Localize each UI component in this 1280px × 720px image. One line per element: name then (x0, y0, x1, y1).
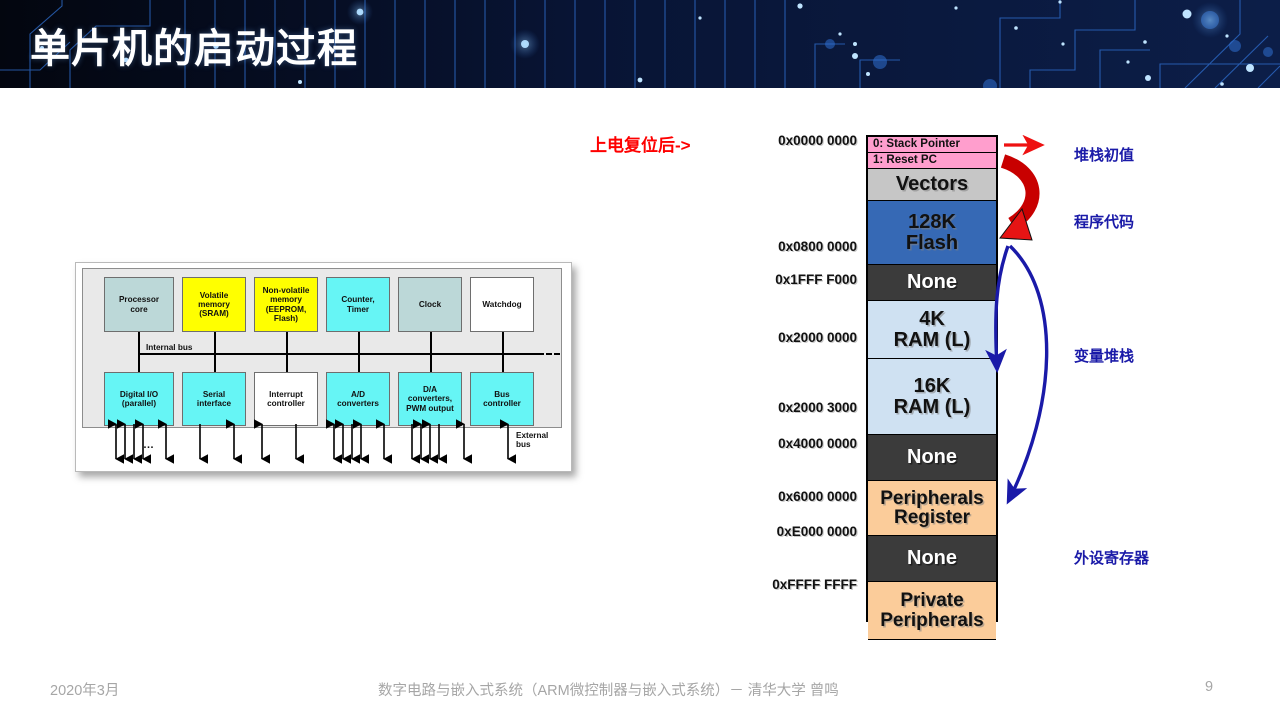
page-title: 单片机的启动过程 (30, 16, 358, 74)
slide-header: 单片机的启动过程 (0, 0, 1280, 88)
side-note-2: 变量堆栈 (1074, 345, 1134, 366)
footer-course-info: 数字电路与嵌入式系统（ARM微控制器与嵌入式系统）－ 清华大学 曾鸣 (378, 679, 839, 700)
side-note-3: 外设寄存器 (1074, 547, 1149, 568)
memory-block-6: 16KRAM (L) (868, 359, 996, 435)
memory-block-label: RAM (L) (894, 329, 971, 351)
memory-block-5: 4KRAM (L) (868, 301, 996, 359)
memory-block-label: Private (900, 590, 963, 611)
external-bus-arrows (82, 263, 577, 471)
external-bus-label: Externalbus (516, 431, 548, 450)
memory-block-label: Flash (906, 232, 958, 254)
memory-block-label: 1: Reset PC (873, 154, 937, 166)
address-label-2: 0x1FFF F000 (657, 272, 857, 287)
red-curved-arrow-program-code (1003, 161, 1033, 224)
footer-date: 2020年3月 (50, 679, 119, 700)
side-note-0: 堆栈初值 (1074, 144, 1134, 165)
address-label-8: 0xFFFF FFFF (657, 577, 857, 592)
address-label-4: 0x2000 3000 (657, 400, 857, 415)
memory-block-label: None (907, 272, 957, 293)
memory-block-label: Peripherals (880, 610, 984, 631)
memory-map: 0: Stack Pointer1: Reset PCVectors128KFl… (866, 135, 998, 622)
memory-block-4: None (868, 265, 996, 301)
address-label-5: 0x4000 0000 (657, 436, 857, 451)
memory-block-8: PeripheralsRegister (868, 481, 996, 536)
memory-block-3: 128KFlash (868, 201, 996, 265)
memory-block-9: None (868, 536, 996, 582)
memory-block-2: Vectors (868, 169, 996, 201)
memory-block-label: Register (894, 507, 970, 528)
page-number: 9 (1205, 679, 1213, 695)
memory-block-1: 1: Reset PC (868, 153, 996, 169)
address-label-0: 0x0000 0000 (657, 133, 857, 148)
memory-block-label: Vectors (896, 174, 968, 195)
red-curved-arrow-head (1000, 209, 1032, 240)
memory-block-label: 4K (919, 308, 945, 330)
memory-block-7: None (868, 435, 996, 481)
blue-arrow-peripherals-register (1009, 246, 1047, 500)
memory-block-0: 0: Stack Pointer (868, 137, 996, 153)
address-label-1: 0x0800 0000 (657, 239, 857, 254)
address-label-7: 0xE000 0000 (657, 524, 857, 539)
memory-block-label: None (907, 548, 957, 569)
side-note-1: 程序代码 (1074, 211, 1134, 232)
slide-footer: 2020年3月 数字电路与嵌入式系统（ARM微控制器与嵌入式系统）－ 清华大学 … (0, 672, 1280, 720)
mcu-block-diagram: ProcessorcoreVolatilememory(SRAM)Non-vol… (75, 262, 572, 472)
external-bus-ellipsis: … (143, 439, 155, 451)
memory-block-label: 128K (908, 211, 956, 233)
memory-block-label: 16K (914, 375, 951, 397)
memory-block-10: PrivatePeripherals (868, 582, 996, 640)
memory-block-label: 0: Stack Pointer (873, 138, 960, 150)
memory-block-label: None (907, 447, 957, 468)
memory-block-label: Peripherals (880, 488, 984, 509)
address-label-3: 0x2000 0000 (657, 330, 857, 345)
address-label-6: 0x6000 0000 (657, 489, 857, 504)
memory-block-label: RAM (L) (894, 396, 971, 418)
